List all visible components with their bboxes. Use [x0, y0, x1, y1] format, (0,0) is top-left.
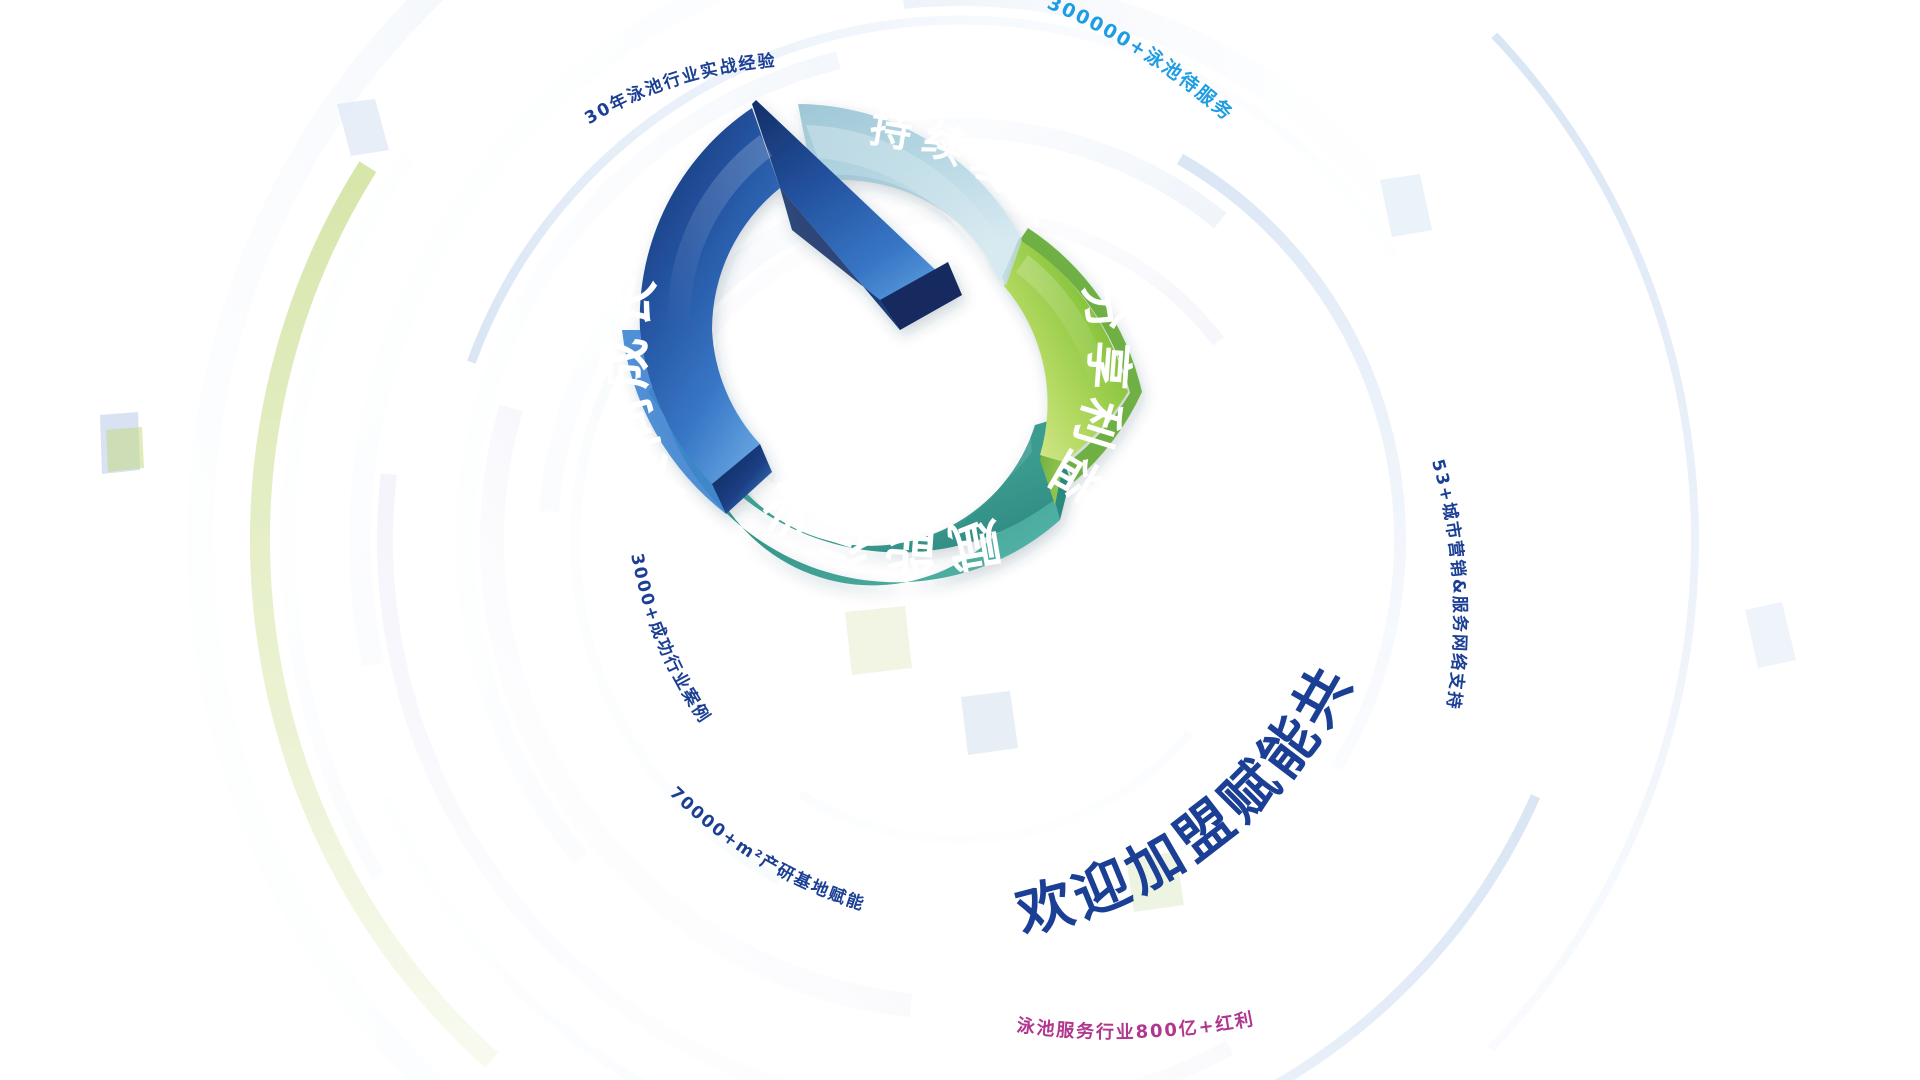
stat-base: 70000+m²产研基地赋能 [665, 783, 868, 915]
stat-cities: 53+城市营销&服务网络支持 [1427, 457, 1470, 712]
stat-experience: 30年泳池行业实战经验 [581, 50, 777, 129]
stat-cases: 3000+成功行业案例 [626, 552, 715, 728]
stat-pools: 300000+泳池待服务 [1044, 0, 1238, 125]
statistic-labels: 30年泳池行业实战经验 300000+泳池待服务 53+城市营销&服务网络支持 … [0, 0, 1920, 1080]
infographic-canvas: 共同成长 持续发展 分享利益 赋能行业 30年泳池行业实战经验 [0, 0, 1920, 1080]
stat-market: 泳池服务行业800亿+红利 [1016, 1008, 1257, 1044]
